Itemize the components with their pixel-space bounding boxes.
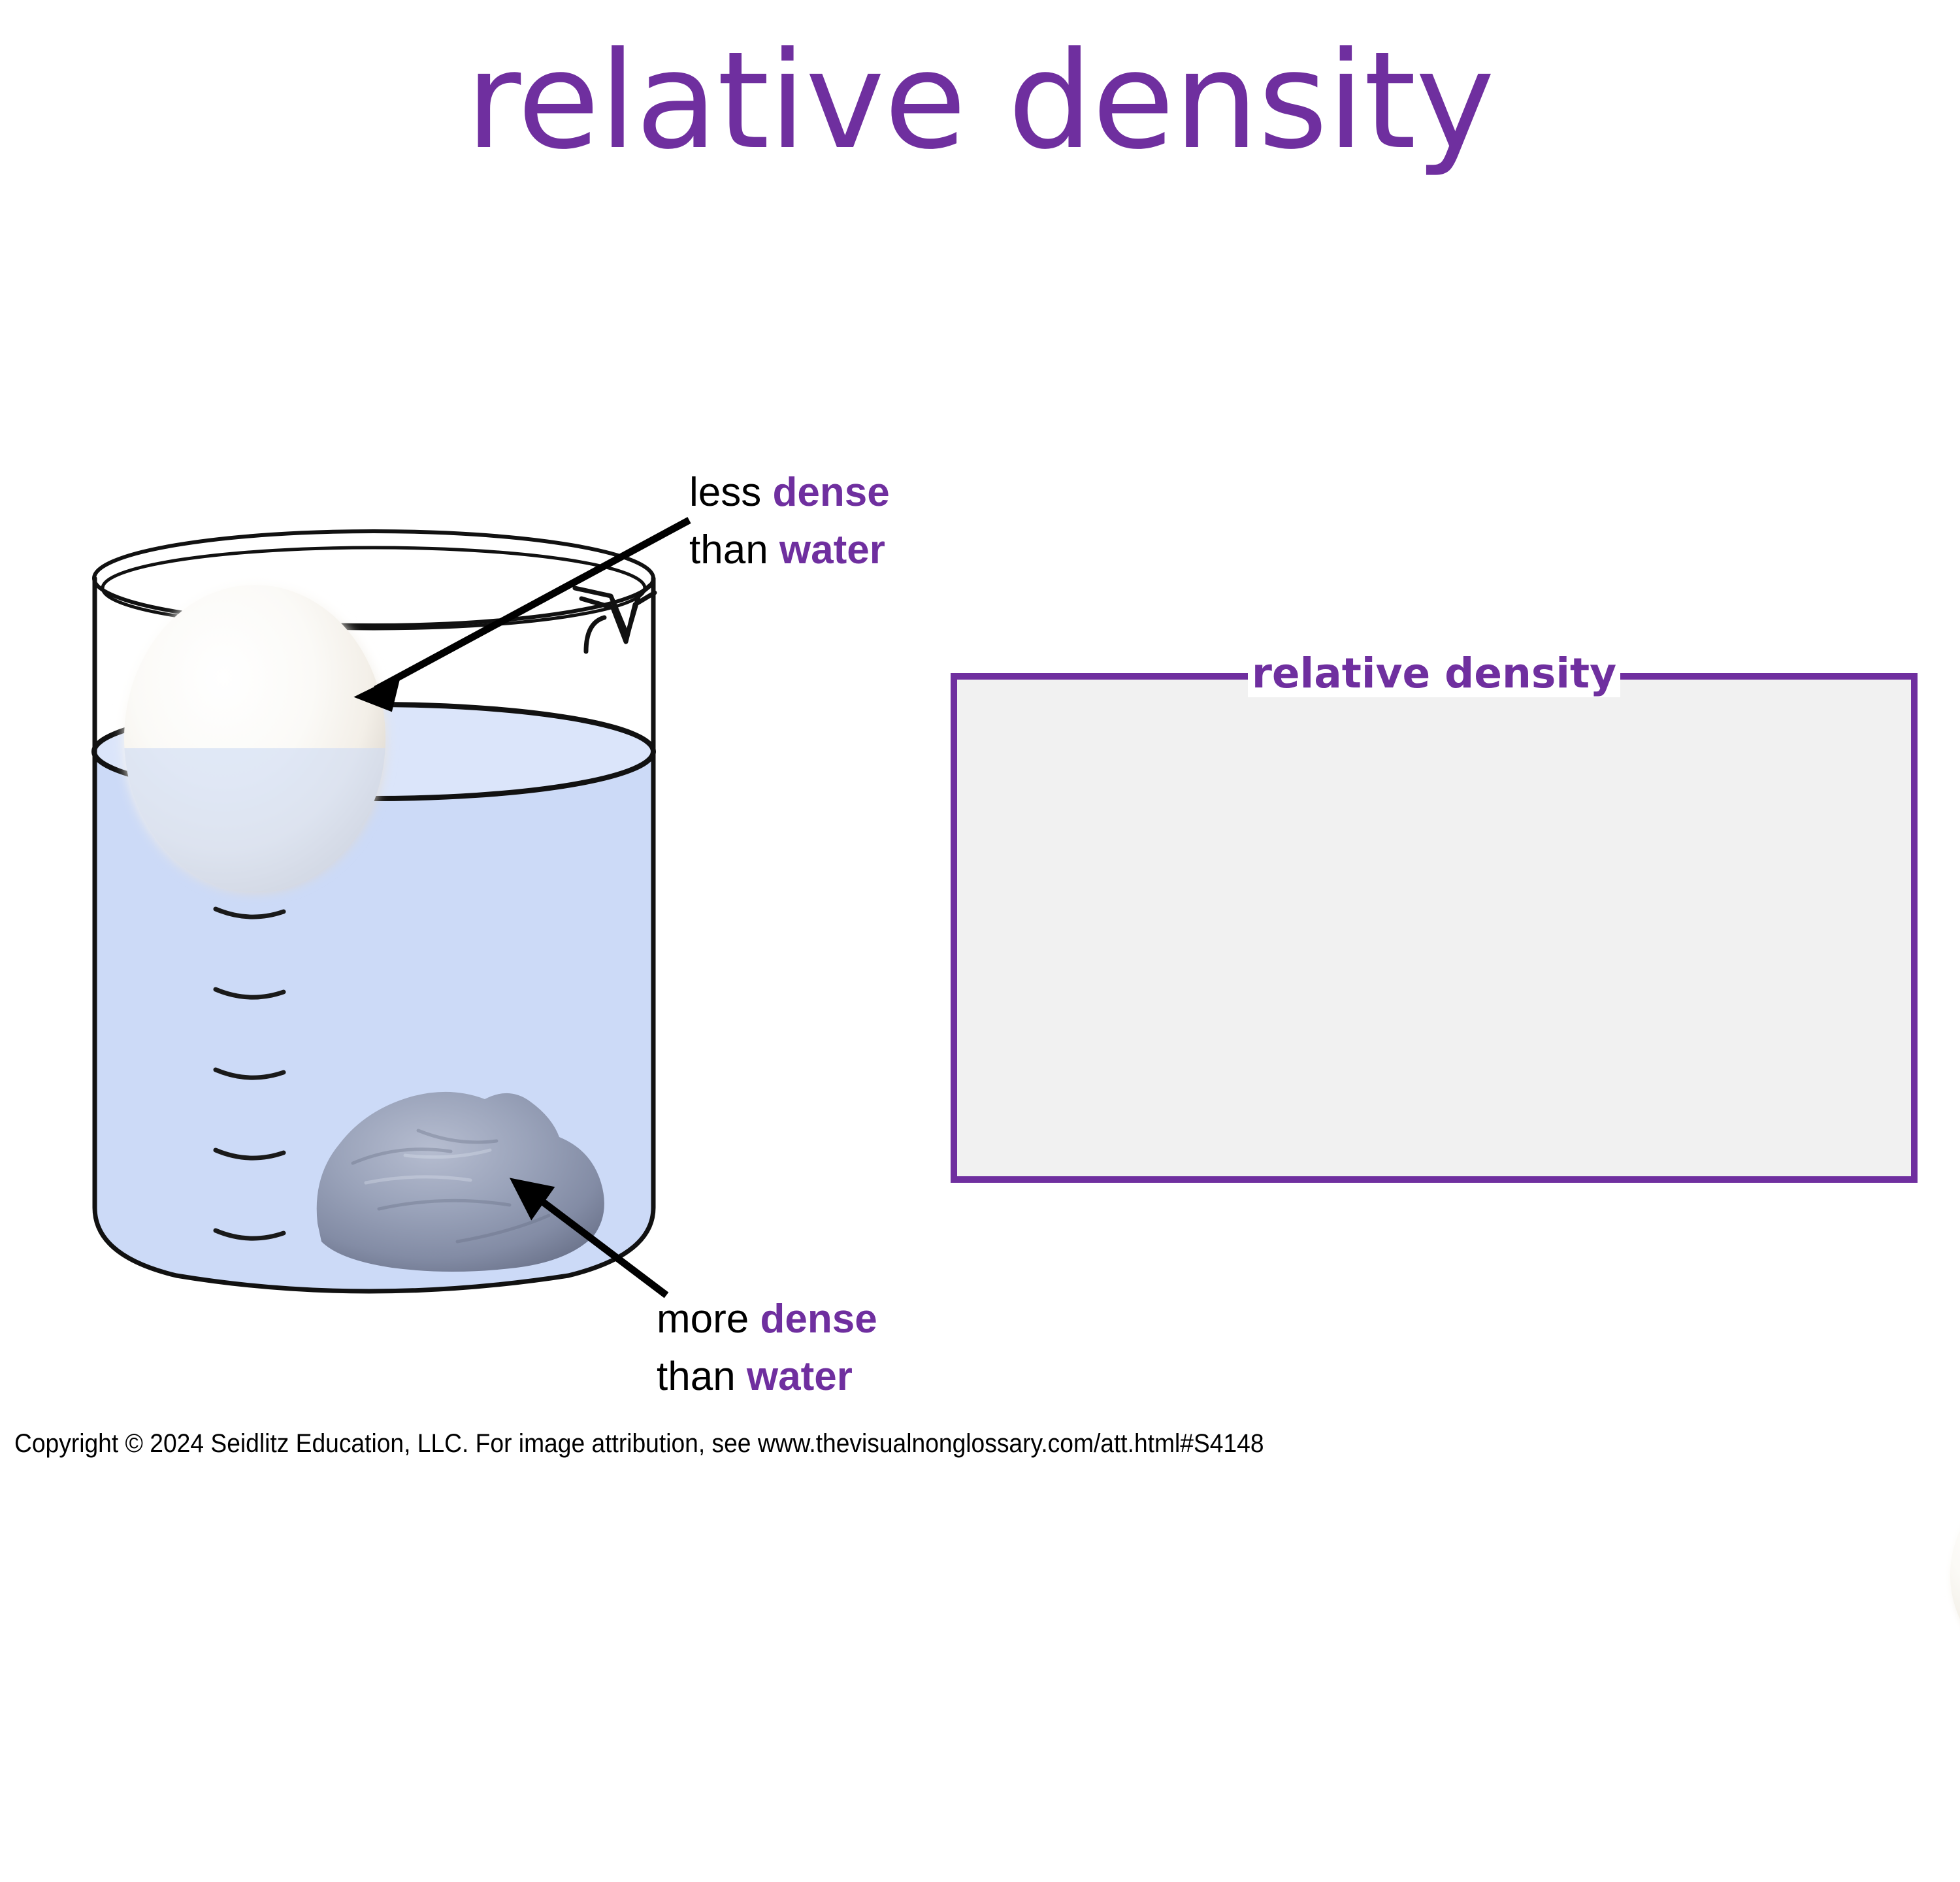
beaker-spout: [575, 583, 655, 652]
label-left-line1: relatively: [1931, 1728, 1960, 1787]
callout-top-line2-bold: water: [779, 527, 885, 572]
callout-bottom-line2-bold: water: [747, 1354, 853, 1399]
callout-top-line1-bold: dense: [772, 470, 889, 515]
callout-bottom-line2-plain: than: [657, 1354, 747, 1399]
relative-density-comparison-panel: relatively not dense relatively dense: [951, 673, 1918, 1183]
panel-label-relatively-not-dense: relatively not dense: [1931, 1728, 1960, 1846]
callout-more-dense-than-water: more dense than water: [657, 1291, 877, 1406]
callout-less-dense-than-water: less dense than water: [689, 464, 890, 579]
callout-bottom-line1-plain: more: [657, 1296, 760, 1342]
page-title: relative density: [0, 26, 1960, 176]
callout-top-line1-plain: less: [689, 470, 772, 515]
callout-top-line2-plain: than: [689, 527, 779, 572]
panel-title-text: relative density: [1248, 650, 1620, 697]
page-root: relative density: [0, 0, 1960, 1470]
panel-white-ball-icon: [1944, 1474, 1960, 1676]
copyright-footer: Copyright © 2024 Seidlitz Education, LLC…: [14, 1428, 1264, 1459]
panel-title: relative density: [951, 650, 1918, 697]
callout-bottom-line1-bold: dense: [760, 1296, 877, 1342]
